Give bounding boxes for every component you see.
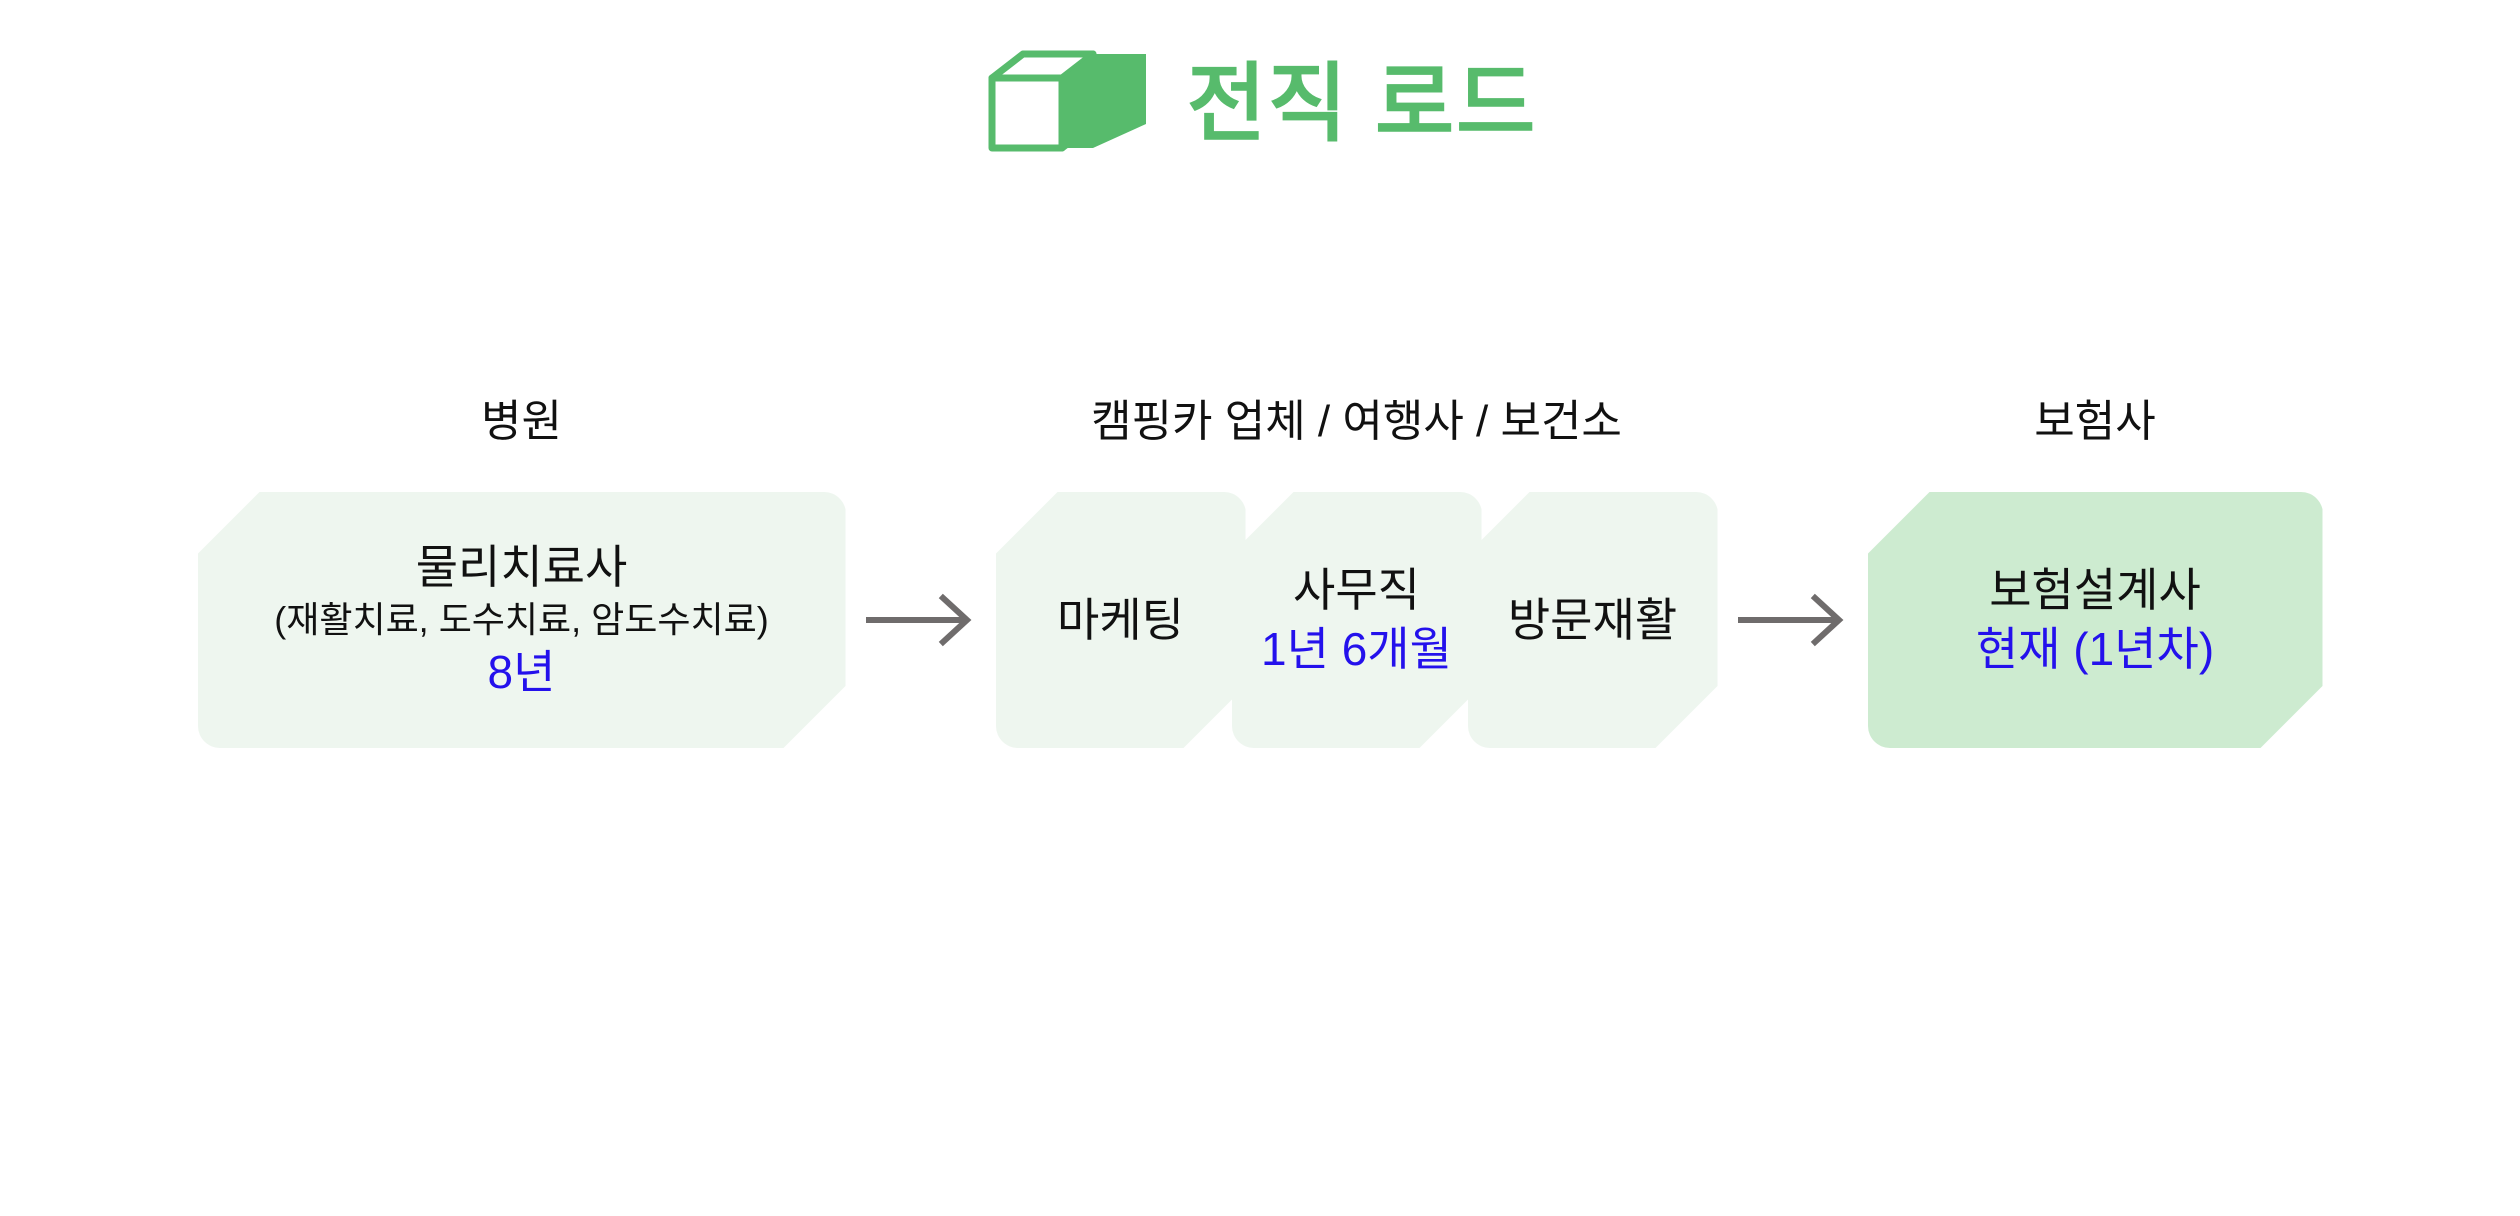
stage-hospital: 병원 물리치료사 (재활치료, 도수치료, 암도수치료) 8년: [198, 400, 846, 748]
page-title: 전직 로드: [1187, 61, 1537, 147]
job-role-label: 사무직: [1293, 561, 1420, 620]
arrow-stage-2-to-3: [1718, 492, 1868, 748]
arrow-stage-1-to-2: [846, 492, 996, 748]
job-role-label: 마케팅: [1057, 591, 1184, 650]
job-card-home-rehab[interactable]: 방문재활: [1468, 492, 1718, 748]
stage-cards: 마케팅 사무직 1년 6개월 방문재활: [996, 492, 1718, 748]
stage-header-label: 보험사: [2034, 400, 2155, 444]
stage-campingcar-travel-healthcenter: 캠핑카 업체 / 여행사 / 보건소 마케팅 사무직 1년 6개월 방문재활: [996, 400, 1718, 748]
page-header: 전직 로드: [0, 48, 2520, 160]
stage-header-label: 캠핑카 업체 / 여행사 / 보건소: [1091, 400, 1622, 444]
stage-cards: 물리치료사 (재활치료, 도수치료, 암도수치료) 8년: [198, 492, 846, 748]
job-card-insurance-planner[interactable]: 보험설계사 현재 (1년차): [1868, 492, 2323, 748]
career-roadmap-page: 전직 로드 병원 물리치료사 (재활치료, 도수치료, 암도수치료) 8년: [0, 0, 2520, 1216]
job-role-label: 물리치료사: [416, 538, 628, 597]
job-card-office-work[interactable]: 사무직 1년 6개월: [1232, 492, 1482, 748]
job-detail-label: (재활치료, 도수치료, 암도수치료): [274, 597, 769, 643]
job-card-physical-therapist[interactable]: 물리치료사 (재활치료, 도수치료, 암도수치료) 8년: [198, 492, 846, 748]
job-duration-label: 8년: [488, 643, 556, 702]
stage-cards: 보험설계사 현재 (1년차): [1868, 492, 2323, 748]
job-role-label: 방문재활: [1508, 591, 1677, 650]
job-duration-label: 현재 (1년차): [1976, 620, 2214, 679]
job-card-marketing[interactable]: 마케팅: [996, 492, 1246, 748]
career-flow: 병원 물리치료사 (재활치료, 도수치료, 암도수치료) 8년 캠핑카 업체 /…: [0, 400, 2520, 748]
stage-header-label: 병원: [481, 400, 562, 444]
job-role-label: 보험설계사: [1989, 561, 2201, 620]
cube-icon: [983, 48, 1153, 160]
job-duration-label: 1년 6개월: [1261, 620, 1452, 679]
stage-insurance-company: 보험사 보험설계사 현재 (1년차): [1868, 400, 2323, 748]
